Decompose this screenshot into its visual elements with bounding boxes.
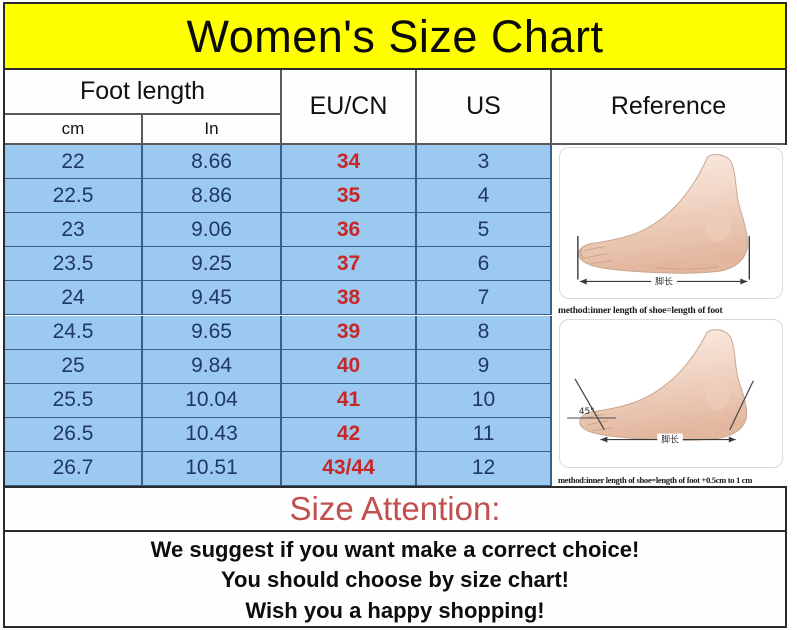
cell-cm: 23 [5,213,143,247]
table-header-row-units: cm In [5,115,785,145]
size-table: Foot length EU/CN US Reference cm In 228… [3,70,787,488]
cell-in: 9.84 [143,350,282,384]
cell-eu: 40 [282,350,417,384]
cell-eu: 41 [282,384,417,418]
cell-cm: 26.5 [5,418,143,452]
column-header-in: In [143,115,282,145]
reference-item-2: 45° 脚长 method:inner length of shoe=lengt… [555,317,787,486]
cell-eu: 43/44 [282,452,417,486]
cell-us: 8 [417,316,552,350]
column-header-foot-length: Foot length [5,70,282,115]
cell-cm: 26.7 [5,452,143,486]
svg-text:脚长: 脚长 [661,434,679,446]
cell-cm: 24 [5,281,143,315]
cell-us: 5 [417,213,552,247]
cell-eu: 42 [282,418,417,452]
size-attention-banner: Size Attention: [3,488,787,532]
cell-in: 8.66 [143,145,282,179]
table-header-row-primary: Foot length EU/CN US Reference [5,70,785,115]
cell-eu: 34 [282,145,417,179]
cell-in: 9.65 [143,316,282,350]
column-header-cm: cm [5,115,143,145]
cell-cm: 24.5 [5,316,143,350]
cell-us: 11 [417,418,552,452]
cell-eu: 38 [282,281,417,315]
cell-in: 9.25 [143,247,282,281]
cell-eu: 39 [282,316,417,350]
svg-text:脚长: 脚长 [655,275,673,287]
cell-in: 9.45 [143,281,282,315]
cell-us: 9 [417,350,552,384]
footer-notes: We suggest if you want make a correct ch… [3,532,787,628]
cell-us: 3 [417,145,552,179]
footer-note-line: Wish you a happy shopping! [245,597,544,624]
cell-eu: 35 [282,179,417,213]
cell-in: 10.51 [143,452,282,486]
cell-us: 6 [417,247,552,281]
size-chart-root: Women's Size Chart Foot length EU/CN US … [0,0,797,630]
cell-us: 4 [417,179,552,213]
reference-caption-2: method:inner length of shoe=length of fo… [558,475,786,485]
foot-side-profile-angled-icon: 45° 脚长 [559,319,783,468]
cell-us: 7 [417,281,552,315]
footer-note-line: We suggest if you want make a correct ch… [151,536,640,563]
cell-eu: 37 [282,247,417,281]
chart-title-banner: Women's Size Chart [3,2,787,70]
cell-eu: 36 [282,213,417,247]
cell-us: 12 [417,452,552,486]
page-title: Women's Size Chart [187,14,604,59]
cell-cm: 22 [5,145,143,179]
foot-side-profile-icon: 脚长 [559,147,783,299]
reference-item-1: 脚长 method:inner length of shoe=length of… [555,145,787,317]
cell-in: 10.43 [143,418,282,452]
reference-column: 脚长 method:inner length of shoe=length of… [555,145,787,486]
svg-text:45°: 45° [579,407,595,417]
cell-cm: 22.5 [5,179,143,213]
reference-caption-1: method:inner length of shoe=length of fo… [558,306,786,316]
size-attention-heading: Size Attention: [290,490,501,528]
cell-us: 10 [417,384,552,418]
cell-cm: 25.5 [5,384,143,418]
cell-in: 9.06 [143,213,282,247]
cell-cm: 23.5 [5,247,143,281]
cell-cm: 25 [5,350,143,384]
cell-in: 8.86 [143,179,282,213]
footer-note-line: You should choose by size chart! [221,566,569,593]
cell-in: 10.04 [143,384,282,418]
